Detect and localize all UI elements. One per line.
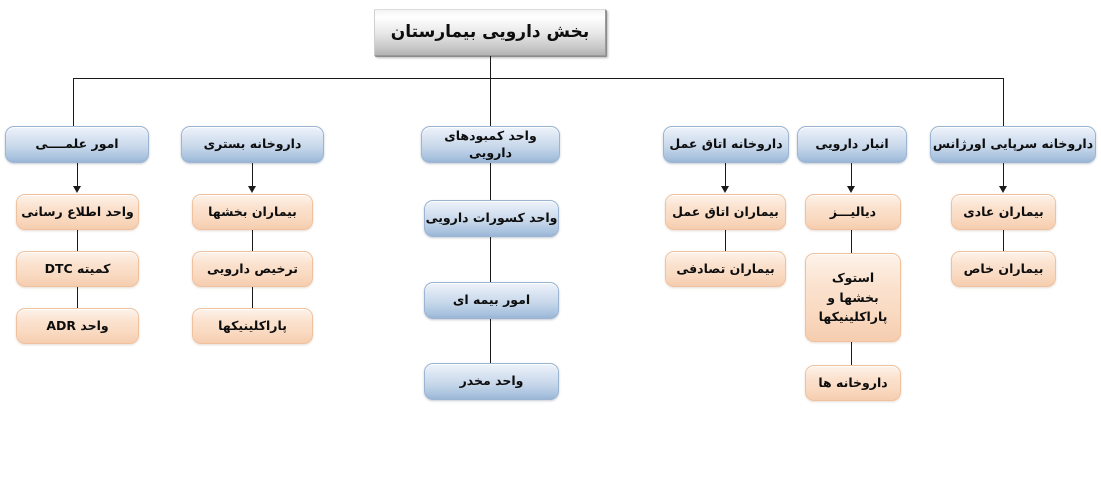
connector-drug-warehouse-child-1-to-2 <box>851 230 852 253</box>
branch-node-scientific-affairs[interactable]: امور علمــــی <box>5 126 149 163</box>
connector-inpatient-pharmacy-to-child-1 <box>252 163 253 188</box>
connector-drug-shortage-to-child-1 <box>490 163 491 200</box>
org-chart-canvas: بخش دارویی بیمارستان امور علمــــی واحد … <box>0 0 1101 487</box>
leaf-node-information-unit[interactable]: واحد اطلاع رسانی <box>16 194 139 230</box>
connector-drug-shortage-child-2-to-3 <box>490 319 491 363</box>
connector-bus-drop-drug-shortage-unit <box>490 78 491 126</box>
leaf-node-ward-patients[interactable]: بیماران بخشها <box>192 194 313 230</box>
connector-scientific-affairs-child-2-to-3 <box>77 287 78 308</box>
leaf-node-adr-unit[interactable]: واحد ADR <box>16 308 139 344</box>
leaf-node-narcotics-unit[interactable]: واحد مخدر <box>424 363 559 400</box>
leaf-node-operating-room-patients[interactable]: بیماران اتاق عمل <box>665 194 786 230</box>
leaf-node-dtc-committee[interactable]: کمیته DTC <box>16 251 139 287</box>
leaf-node-dialysis[interactable]: دیالیـــز <box>805 194 901 230</box>
leaf-node-ward-and-paraclinic-stock[interactable]: استوک بخشها و پاراکلینیکها <box>805 253 901 342</box>
leaf-node-special-patients[interactable]: بیماران خاص <box>951 251 1056 287</box>
leaf-node-regular-patients[interactable]: بیماران عادی <box>951 194 1056 230</box>
leaf-node-insurance-affairs[interactable]: امور بیمه ای <box>424 282 559 319</box>
connector-scientific-affairs-child-1-to-2 <box>77 230 78 251</box>
connector-emergency-outpatient-child-1-to-2 <box>1003 230 1004 251</box>
arrowhead-drug-warehouse <box>847 186 855 193</box>
leaf-node-accident-patients[interactable]: بیماران تصادفی <box>665 251 786 287</box>
connector-drug-shortage-child-1-to-2 <box>490 237 491 282</box>
leaf-node-pharmacies[interactable]: داروخانه ها <box>805 365 901 401</box>
connector-scientific-affairs-to-child-1 <box>77 163 78 188</box>
connector-horizontal-bus <box>73 78 1004 79</box>
connector-root-stem <box>490 56 491 78</box>
connector-operating-room-child-1-to-2 <box>725 230 726 251</box>
connector-bus-drop-scientific-affairs <box>73 78 74 126</box>
arrowhead-emergency-outpatient-pharmacy <box>999 186 1007 193</box>
connector-bus-drop-emergency-outpatient-pharmacy <box>1003 78 1004 126</box>
branch-node-drug-shortage-unit[interactable]: واحد کمبودهای دارویی <box>421 126 560 163</box>
leaf-node-drug-discharge[interactable]: ترخیص دارویی <box>192 251 313 287</box>
connector-emergency-outpatient-to-child-1 <box>1003 163 1004 188</box>
branch-node-inpatient-pharmacy[interactable]: داروخانه بستری <box>181 126 324 163</box>
arrowhead-inpatient-pharmacy <box>248 186 256 193</box>
branch-node-operating-room-pharmacy[interactable]: داروخانه اتاق عمل <box>663 126 789 163</box>
connector-operating-room-to-child-1 <box>725 163 726 188</box>
branch-node-drug-warehouse[interactable]: انبار دارویی <box>797 126 907 163</box>
branch-node-emergency-outpatient-pharmacy[interactable]: داروخانه سرپایی اورژانس <box>930 126 1096 163</box>
connector-inpatient-pharmacy-child-2-to-3 <box>252 287 253 308</box>
leaf-node-drug-deductions-unit[interactable]: واحد کسورات دارویی <box>424 200 559 237</box>
leaf-node-paraclinics[interactable]: پاراکلینیکها <box>192 308 313 344</box>
arrowhead-operating-room-pharmacy <box>721 186 729 193</box>
connector-drug-warehouse-child-2-to-3 <box>851 342 852 365</box>
root-node-hospital-pharmacy-department[interactable]: بخش دارویی بیمارستان <box>374 9 606 56</box>
arrowhead-scientific-affairs <box>73 186 81 193</box>
connector-inpatient-pharmacy-child-1-to-2 <box>252 230 253 251</box>
connector-drug-warehouse-to-child-1 <box>851 163 852 188</box>
